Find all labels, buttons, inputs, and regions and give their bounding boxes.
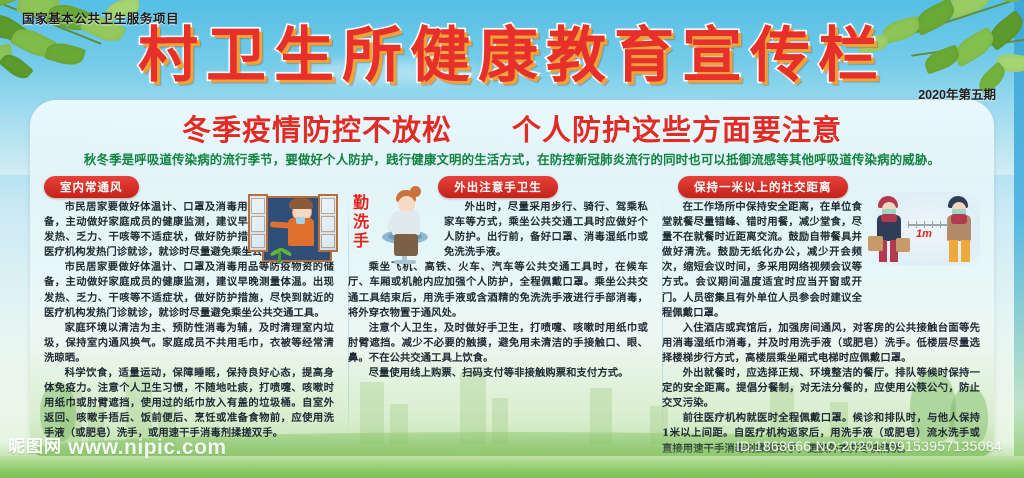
- wash-hands-label: 勤洗手: [350, 194, 367, 251]
- person-opening-window-icon: [244, 190, 340, 266]
- content-panel: 冬季疫情防控不放松 个人防护这些方面要注意 秋冬季是呼吸道传染病的流行季节，要做…: [30, 100, 994, 458]
- two-people-social-distance-icon: 1m: [862, 190, 986, 274]
- wash-hands-illustration: 勤洗手: [348, 192, 440, 264]
- watermark-url: www.nipic.com: [68, 436, 227, 459]
- distance-label: 1m: [916, 228, 932, 240]
- page-title: 村卫生所健康教育宣传栏: [0, 24, 1024, 88]
- section-badge-hand-hygiene: 外出注意手卫生: [438, 176, 558, 198]
- section-badge-indoor-ventilation: 室内常通风: [44, 176, 139, 198]
- paragraph: 外出就餐时，应选择正规、环境整洁的餐厅。排队等候时保持一定的安全距离。提倡分餐制…: [662, 366, 980, 411]
- column-hand-hygiene: 外出注意手卫生 勤洗手: [348, 176, 648, 458]
- column-social-distance: 保持一米以上的社交距离: [662, 176, 980, 458]
- health-education-poster: 国家基本公共卫生服务项目 村卫生所健康教育宣传栏 2020年第五期 冬季疫情防控…: [0, 0, 1024, 478]
- main-slogan: 冬季疫情防控不放松 个人防护这些方面要注意: [30, 114, 994, 148]
- paragraph: 市民居家要做好体温计、口罩及消毒用品等防疫物资的储备，主动做好家庭成员的健康监测…: [44, 260, 334, 320]
- lead-paragraph: 秋冬季是呼吸道传染病的流行季节，要做好个人防护，践行健康文明的生活方式，在防控新…: [30, 152, 994, 169]
- paragraph: 乘坐飞机、高铁、火车、汽车等公共交通工具时，在候车厅、车厢或机舱内应加强个人防护…: [348, 260, 648, 320]
- watermark-logo: 昵图网: [8, 432, 62, 457]
- watermark-id: ID:1868666 NO:20201109153957135084: [736, 438, 1002, 454]
- paragraph: 入住酒店或宾馆后，加强房间通风，对客房的公共接触台面等先用消毒湿纸巾消毒，并及时…: [662, 321, 980, 366]
- paragraph: 科学饮食，适量运动，保障睡眠，保持良好心态，提高身体免疫力。注意个人卫生习惯，不…: [44, 366, 334, 441]
- column-indoor-ventilation: 室内常通风: [44, 176, 334, 458]
- section-badge-social-distance: 保持一米以上的社交距离: [678, 176, 848, 198]
- paragraph: 注意个人卫生，及时做好手卫生，打喷嚏、咳嗽时用纸巾或肘臂遮挡。减少不必要的触摸，…: [348, 321, 648, 366]
- watermark-site: 昵图网www.nipic.com: [8, 432, 227, 460]
- columns-container: 室内常通风: [44, 176, 980, 458]
- paragraph: 家庭环境以清洁为主、预防性消毒为辅，及时清理室内垃圾，保持室内通风换气。家庭成员…: [44, 321, 334, 366]
